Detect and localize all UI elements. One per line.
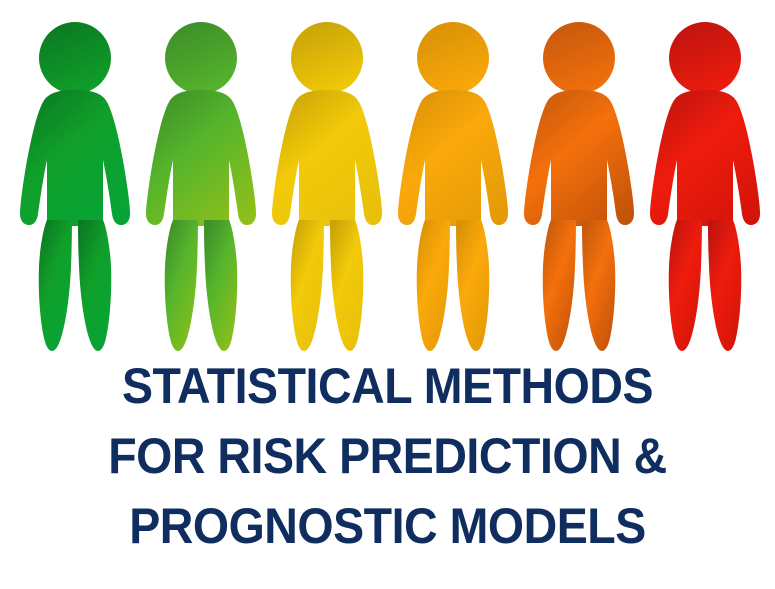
title-line-2: FOR RISK PREDICTION & [27,431,748,481]
person-figure-1-green [12,14,138,352]
person-leg-right [204,220,237,351]
person-leg-right [78,220,111,351]
person-leg-left [291,220,324,351]
title-line-3: PROGNOSTIC MODELS [27,501,748,551]
person-leg-right [456,220,489,351]
person-head [543,22,615,94]
person-head [39,22,111,94]
person-figure-3-yellow [264,14,390,352]
person-torso-arms [650,90,760,226]
slide-canvas: STATISTICAL METHODS FOR RISK PREDICTION … [0,0,775,589]
person-leg-left [39,220,72,351]
person-figure-6-red [642,14,768,352]
person-leg-left [669,220,702,351]
title-line-1: STATISTICAL METHODS [27,361,748,411]
person-leg-left [165,220,198,351]
person-head [291,22,363,94]
person-figure-4-amber [390,14,516,352]
person-torso-arms [20,90,130,226]
people-pictogram-row [0,0,775,352]
person-head [417,22,489,94]
person-torso-arms [524,90,634,226]
title-block: STATISTICAL METHODS FOR RISK PREDICTION … [0,350,775,551]
person-leg-left [543,220,576,351]
person-leg-right [582,220,615,351]
person-figure-5-orange [516,14,642,352]
person-torso-arms [146,90,256,226]
person-leg-right [330,220,363,351]
person-leg-left [417,220,450,351]
person-torso-arms [272,90,382,226]
person-torso-arms [398,90,508,226]
person-head [669,22,741,94]
person-figure-2-light-green [138,14,264,352]
person-head [165,22,237,94]
person-leg-right [708,220,741,351]
